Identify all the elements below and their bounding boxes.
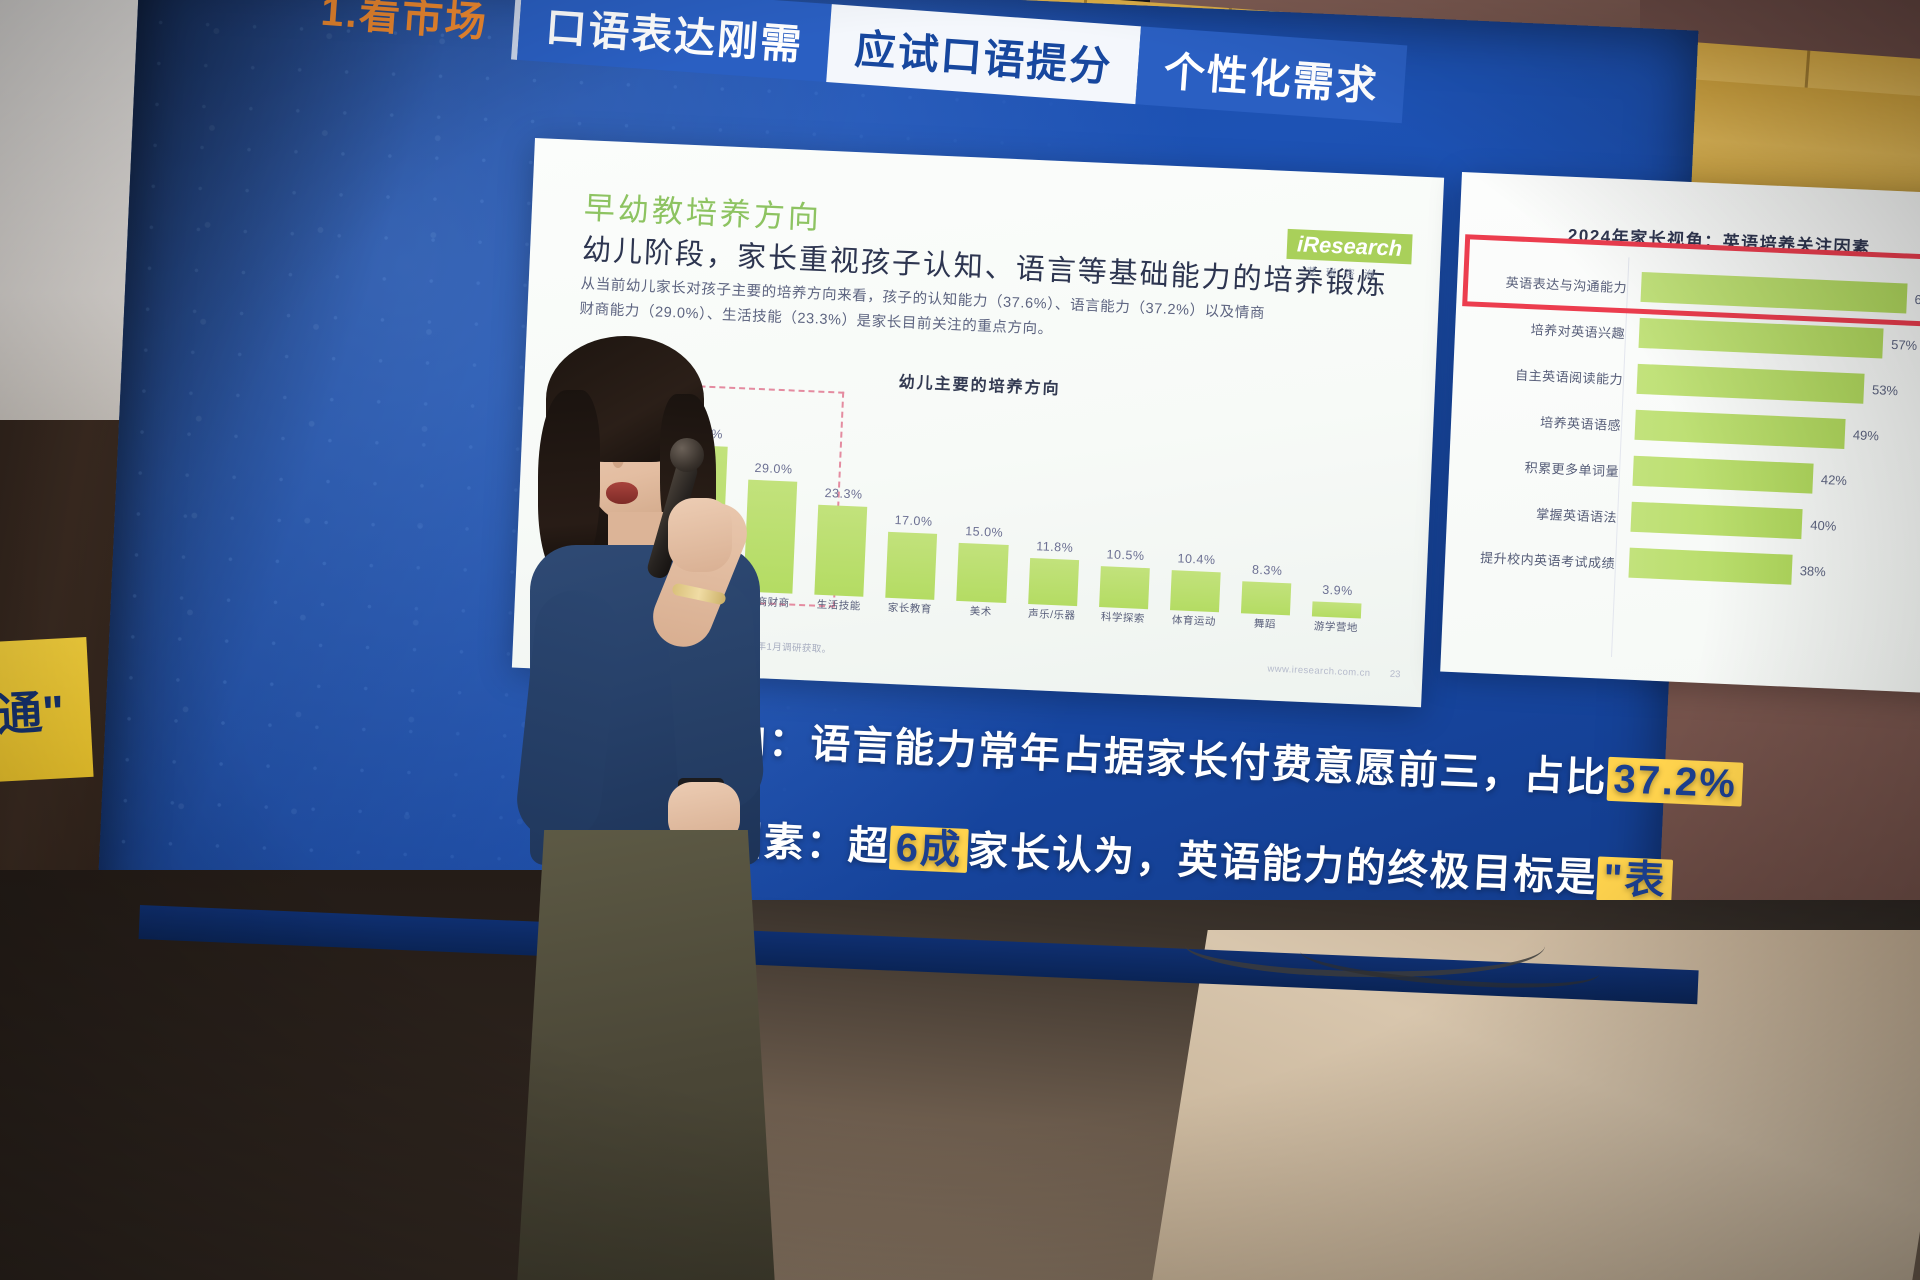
hbar-value-label: 53%	[1872, 382, 1899, 398]
hbar-rect	[1628, 548, 1792, 585]
hbar-track: 49%	[1634, 410, 1920, 454]
header-chip-1: 口语表达刚需	[517, 0, 832, 82]
slide-card-right: 2024年家长视角：英语培养关注因素 英语表达与沟通能力62%培养对英语兴趣57…	[1440, 172, 1920, 694]
hbar-category-label: 积累更多单词量	[1467, 454, 1634, 480]
bar-column: 10.5%	[1099, 411, 1157, 609]
bar-rect	[1312, 601, 1362, 618]
bar-category-label: 体育运动	[1169, 612, 1219, 638]
hbar-rect	[1636, 364, 1864, 404]
iresearch-logo: iResearch 艾瑞咨询	[1286, 229, 1406, 282]
bar-category-label: 舞蹈	[1240, 615, 1290, 641]
hbar-value-label: 49%	[1853, 427, 1880, 443]
bar-value-label: 10.4%	[1177, 551, 1216, 567]
bottom-line-1-highlight: 37.2%	[1607, 757, 1744, 807]
bar-value-label: 15.0%	[965, 524, 1004, 540]
bar-column: 3.9%	[1312, 421, 1370, 619]
left-yellow-sign: 通"	[0, 637, 94, 783]
screenshot-scene: 1.看市场 口语表达刚需 应试口语提分 个性化需求 早幼教培养方向 幼儿阶段，家…	[0, 0, 1920, 1280]
bottom-line-2-highlight-2: "表	[1596, 856, 1673, 903]
presenter	[520, 330, 770, 1280]
hbar-category-label: 提升校内英语考试成绩	[1463, 546, 1630, 572]
bar-value-label: 10.5%	[1106, 548, 1145, 564]
bottom-line-2-mid: 家长认为，英语能力的终极目标是	[967, 829, 1598, 900]
bar-category-label: 家长教育	[885, 600, 935, 626]
bar-category-label: 声乐/乐器	[1027, 606, 1077, 632]
hbar-category-label: 培养英语语感	[1469, 408, 1636, 434]
hbar-track: 42%	[1632, 456, 1920, 500]
slide-page-number: 23	[1390, 669, 1401, 680]
hbar-rect	[1630, 502, 1803, 539]
bar-category-label: 科学探索	[1098, 609, 1148, 635]
presenter-mouth	[606, 482, 638, 504]
header-chip-3: 个性化需求	[1136, 26, 1408, 123]
bottom-line-2-highlight: 6成	[889, 826, 969, 873]
white-wall-panel	[0, 0, 140, 420]
bar-category-label: 生活技能	[813, 597, 863, 623]
bar-rect	[1241, 581, 1291, 615]
hbar-track: 40%	[1630, 502, 1920, 546]
microphone-head	[670, 438, 704, 472]
presenter-hand-right	[668, 498, 732, 572]
hbar-track: 53%	[1636, 364, 1920, 408]
bar-category-label: 美术	[956, 603, 1006, 629]
hbar-rect	[1634, 410, 1845, 449]
hbar-value-label: 57%	[1891, 336, 1918, 352]
bar-column: 15.0%	[957, 405, 1015, 603]
hbar-category-label: 掌握英语语法	[1465, 500, 1632, 526]
iresearch-logo-mark: iResearch	[1286, 229, 1412, 264]
bar-rect	[886, 532, 938, 600]
bar-rect	[815, 504, 868, 596]
bar-rect	[957, 543, 1009, 603]
left-yellow-sign-label: 通"	[0, 675, 66, 744]
header-chip-0: 1.看市场	[293, 0, 517, 59]
hbar-category-label: 培养对英语兴趣	[1473, 316, 1640, 342]
bar-value-label: 3.9%	[1322, 583, 1353, 598]
hbar-value-label: 42%	[1821, 471, 1848, 487]
hbar-track: 57%	[1638, 318, 1920, 362]
hbar-rect	[1632, 456, 1813, 494]
hbar-value-label: 38%	[1799, 563, 1826, 579]
bar-rect	[1170, 570, 1221, 612]
bar-value-label: 8.3%	[1252, 563, 1283, 578]
bar-column: 11.8%	[1028, 408, 1086, 606]
bar-column: 8.3%	[1241, 417, 1299, 615]
slide-source-url: www.iresearch.com.cn	[1267, 663, 1370, 678]
bar-value-label: 17.0%	[894, 513, 933, 529]
presenter-skirt	[512, 830, 780, 1280]
bar-category-label: 游学营地	[1311, 618, 1361, 644]
bar-value-label: 11.8%	[1036, 540, 1074, 556]
bar-rect	[1028, 558, 1079, 606]
bar-column: 10.4%	[1170, 414, 1228, 612]
bar-column: 17.0%	[886, 402, 944, 600]
hbar-value-label: 40%	[1810, 517, 1837, 533]
bar-rect	[1099, 566, 1150, 609]
bar-value-label: 23.3%	[824, 486, 863, 502]
hbar-rect	[1638, 318, 1883, 359]
hbar-track: 38%	[1628, 548, 1920, 592]
bar-column: 23.3%	[815, 399, 873, 597]
header-chip-2: 应试口语提分	[826, 4, 1141, 104]
hbar-category-label: 自主英语阅读能力	[1471, 362, 1638, 388]
